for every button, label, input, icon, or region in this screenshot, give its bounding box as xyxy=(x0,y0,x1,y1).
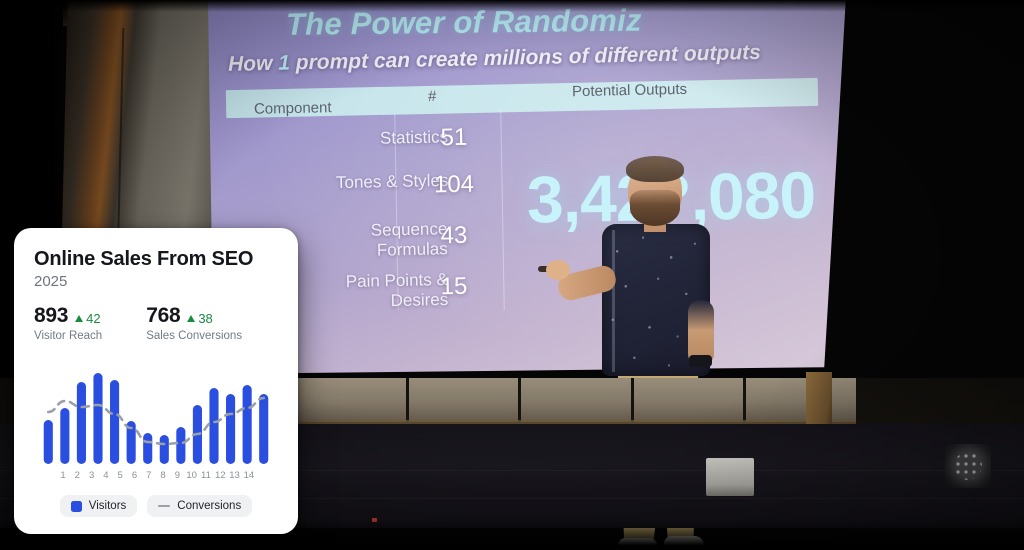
slide-row-count-2: 104 xyxy=(418,170,491,200)
slide-subtitle-number: 1 xyxy=(278,52,290,75)
kpi-visitor-reach-delta: 42 xyxy=(75,311,100,326)
chart-bar xyxy=(44,420,53,464)
kpi-visitor-reach-value: 893 xyxy=(34,304,68,328)
presenter-hand-left xyxy=(546,260,570,280)
slide-table-divider-2 xyxy=(500,110,504,310)
chart-bar xyxy=(93,373,102,464)
chart-x-tick: 1 xyxy=(56,470,70,481)
slide-subtitle-pre: How xyxy=(228,52,279,76)
kpi-sales-conversions-label: Sales Conversions xyxy=(146,330,242,342)
chart-x-axis: 1234567891011121314 xyxy=(34,468,278,481)
kpi-sales-conversions-value: 768 xyxy=(146,304,180,328)
chart-x-tick: 5 xyxy=(113,470,127,481)
kpi-sales-conversions-delta-value: 38 xyxy=(198,311,212,326)
wall-panel xyxy=(409,378,519,422)
slide-subtitle: How 1 prompt can create millions of diff… xyxy=(228,39,838,77)
chart-x-tick: 4 xyxy=(99,470,113,481)
legend-visitors-label: Visitors xyxy=(89,500,127,512)
kpi-sales-conversions: 768 38 Sales Conversions xyxy=(146,304,242,342)
chart-x-tick: 14 xyxy=(242,470,256,481)
chart-bar xyxy=(259,394,268,464)
slide-col-count: # xyxy=(428,88,437,105)
stage-monitor-speaker xyxy=(706,458,754,496)
chart-x-tick: 7 xyxy=(142,470,156,481)
chart-bar xyxy=(110,380,119,464)
presenter-hair xyxy=(626,156,684,182)
presenter-beard xyxy=(630,190,680,226)
analytics-card: Online Sales From SEO 2025 893 42 Visito… xyxy=(14,228,298,534)
wall-panel xyxy=(296,378,406,422)
legend-item-conversions[interactable]: Conversions xyxy=(147,495,252,517)
chart-bar xyxy=(243,385,252,464)
chart-x-tick: 11 xyxy=(199,470,213,481)
chart-x-tick: 8 xyxy=(156,470,170,481)
slide-col-potential-outputs: Potential Outputs xyxy=(572,81,687,100)
stage-wall-panels xyxy=(296,378,856,422)
chart xyxy=(34,358,278,468)
presenter-shirt-placket xyxy=(612,230,615,372)
slide-row-count-1: 51 xyxy=(418,123,491,153)
chart-x-tick: 12 xyxy=(213,470,227,481)
presenter-watch xyxy=(689,355,712,367)
kpi-visitor-reach-delta-value: 42 xyxy=(86,311,100,326)
legend-item-visitors[interactable]: Visitors xyxy=(60,495,138,517)
slide-row-count-4: 15 xyxy=(418,272,491,302)
trend-up-icon xyxy=(187,315,195,322)
chart-x-tick: 9 xyxy=(170,470,184,481)
chart-bar xyxy=(226,394,235,464)
chart-legend: Visitors Conversions xyxy=(34,495,278,517)
projection-screen: The Power of Randomiz How 1 prompt can c… xyxy=(206,0,846,374)
legend-dash-icon xyxy=(158,505,170,508)
card-title: Online Sales From SEO xyxy=(34,248,278,270)
trend-up-icon xyxy=(75,315,83,322)
slide-col-component: Component xyxy=(254,99,332,118)
kpi-visitor-reach: 893 42 Visitor Reach xyxy=(34,304,102,342)
chart-bar xyxy=(77,382,86,464)
chart-bar xyxy=(160,435,169,464)
slide-subtitle-post: prompt can create millions of different … xyxy=(290,41,761,75)
screenshot-root: The Power of Randomiz How 1 prompt can c… xyxy=(0,0,1024,550)
card-year: 2025 xyxy=(34,273,278,290)
chart-x-tick: 13 xyxy=(228,470,242,481)
wall-panel xyxy=(746,378,856,422)
chart-bar xyxy=(209,388,218,464)
chart-x-tick: 10 xyxy=(185,470,199,481)
wall-panel xyxy=(521,378,631,422)
chart-bar xyxy=(143,433,152,464)
chart-bar xyxy=(60,408,69,464)
chart-svg xyxy=(34,358,278,468)
kpi-visitor-reach-label: Visitor Reach xyxy=(34,330,102,342)
stage-light xyxy=(945,444,991,488)
chart-x-tick: 6 xyxy=(127,470,141,481)
kpi-sales-conversions-delta: 38 xyxy=(187,311,212,326)
photo-top-fade xyxy=(0,0,1024,12)
wall-panel xyxy=(634,378,744,422)
chart-bar xyxy=(176,427,185,464)
chart-x-tick: 3 xyxy=(85,470,99,481)
kpi-row: 893 42 Visitor Reach 768 38 xyxy=(34,304,278,342)
legend-conversions-label: Conversions xyxy=(177,500,241,512)
chart-x-tick: 2 xyxy=(70,470,84,481)
legend-square-icon xyxy=(71,501,82,512)
slide-row-count-3: 43 xyxy=(418,221,491,251)
